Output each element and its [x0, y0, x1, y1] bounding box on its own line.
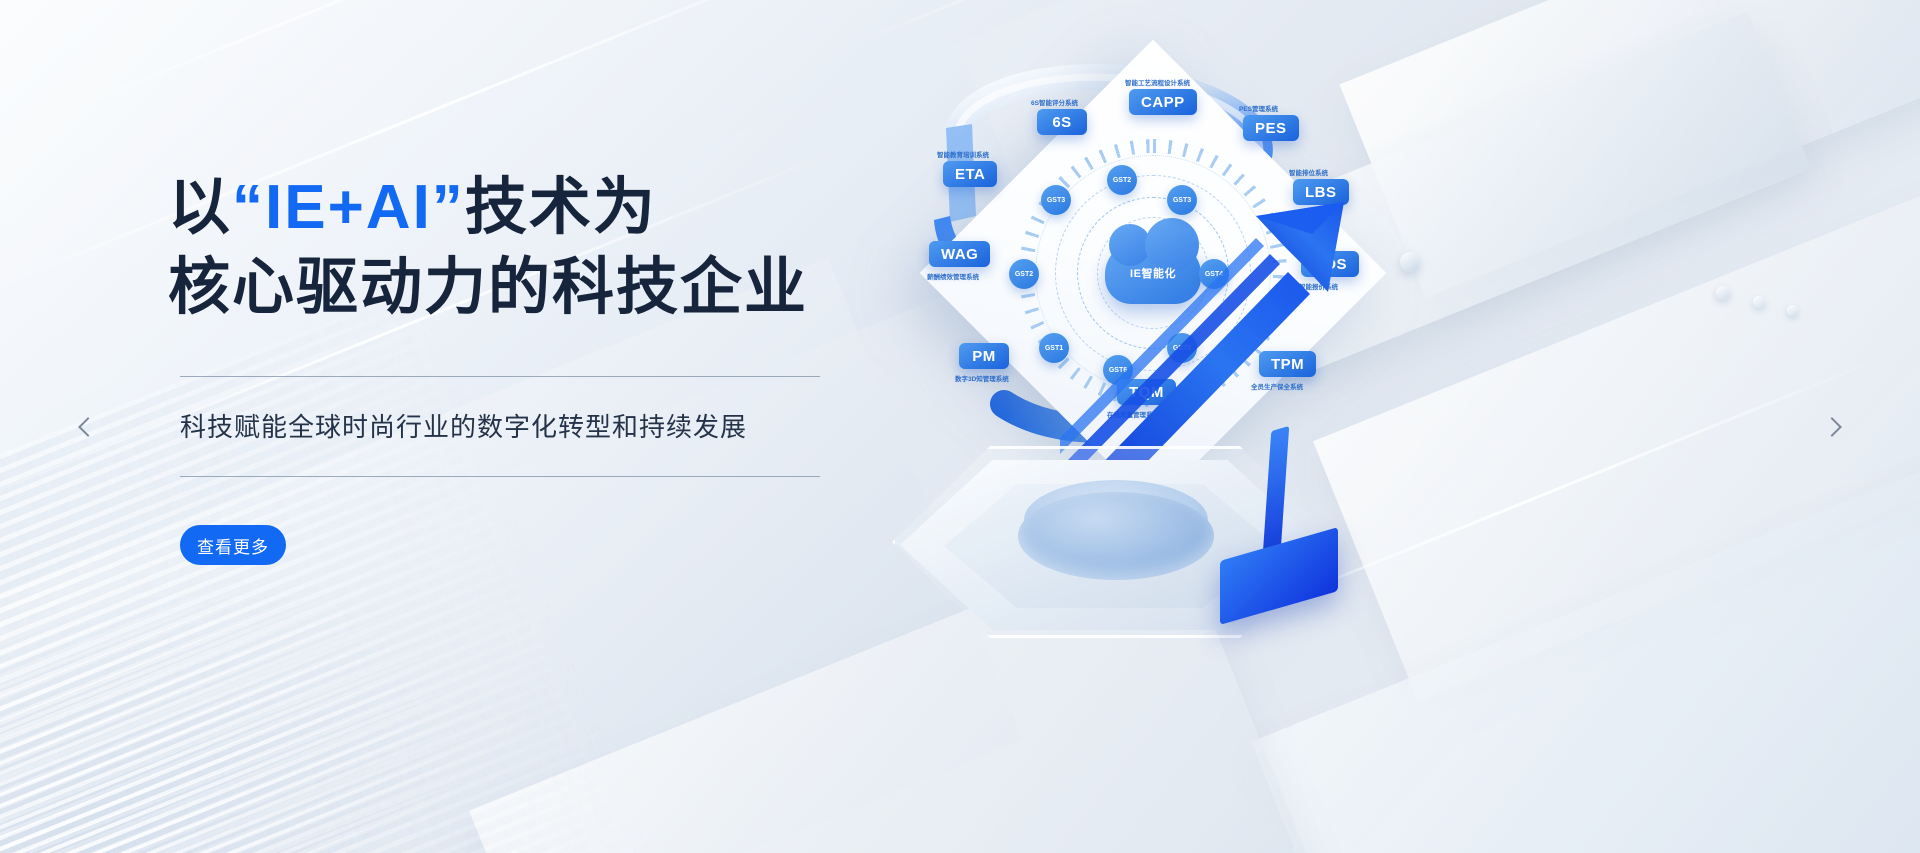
- module-pill-6s[interactable]: 6S: [1037, 109, 1087, 135]
- divider-top: [180, 376, 820, 377]
- headline-highlight: “IE+AI”: [232, 173, 465, 242]
- headline-prefix: 以: [168, 173, 232, 242]
- decorative-dot: [1787, 305, 1798, 316]
- carousel-prev-button[interactable]: [68, 407, 108, 447]
- decorative-dot: [1716, 286, 1730, 300]
- hero-subtitle: 科技赋能全球时尚行业的数字化转型和持续发展: [180, 407, 868, 444]
- module-caption: PES管理系统: [1239, 103, 1278, 113]
- hero-illustration: IE智能化 GST2 GST3 GST4 GST5 GST6 GST1 GST2…: [880, 40, 1500, 640]
- page-title: 以“IE+AI”技术为: [168, 168, 868, 248]
- carousel-next-button[interactable]: [1812, 407, 1852, 447]
- hero-copy: 以“IE+AI”技术为 核心驱动力的科技企业 科技赋能全球时尚行业的数字化转型和…: [168, 168, 868, 565]
- chevron-right-icon: [1822, 417, 1842, 437]
- headline-suffix: 技术为: [465, 173, 657, 242]
- page-subtitle-strong: 核心驱动力的科技企业: [168, 248, 868, 328]
- node-gst: GST2: [1009, 259, 1039, 289]
- module-pill-eta[interactable]: ETA: [943, 161, 997, 187]
- divider-bottom: [180, 476, 820, 477]
- module-pill-wag[interactable]: WAG: [929, 241, 990, 267]
- module-caption: 智能工艺流程设计系统: [1125, 77, 1190, 87]
- chevron-left-icon: [78, 417, 98, 437]
- hero-banner: 以“IE+AI”技术为 核心驱动力的科技企业 科技赋能全球时尚行业的数字化转型和…: [0, 0, 1920, 853]
- module-pill-pes[interactable]: PES: [1243, 115, 1299, 141]
- module-caption: 数字3D知管理系统: [955, 373, 1009, 383]
- module-caption: 薪酬绩效管理系统: [927, 271, 979, 281]
- decorative-dot: [1753, 296, 1765, 308]
- module-pill-capp[interactable]: CAPP: [1129, 89, 1197, 115]
- module-pill-pm[interactable]: PM: [959, 343, 1009, 369]
- module-caption: 6S智能评分系统: [1031, 97, 1078, 107]
- podium-base: [900, 440, 1330, 640]
- view-more-button[interactable]: 查看更多: [180, 525, 286, 565]
- module-caption: 智能教育培训系统: [937, 149, 989, 159]
